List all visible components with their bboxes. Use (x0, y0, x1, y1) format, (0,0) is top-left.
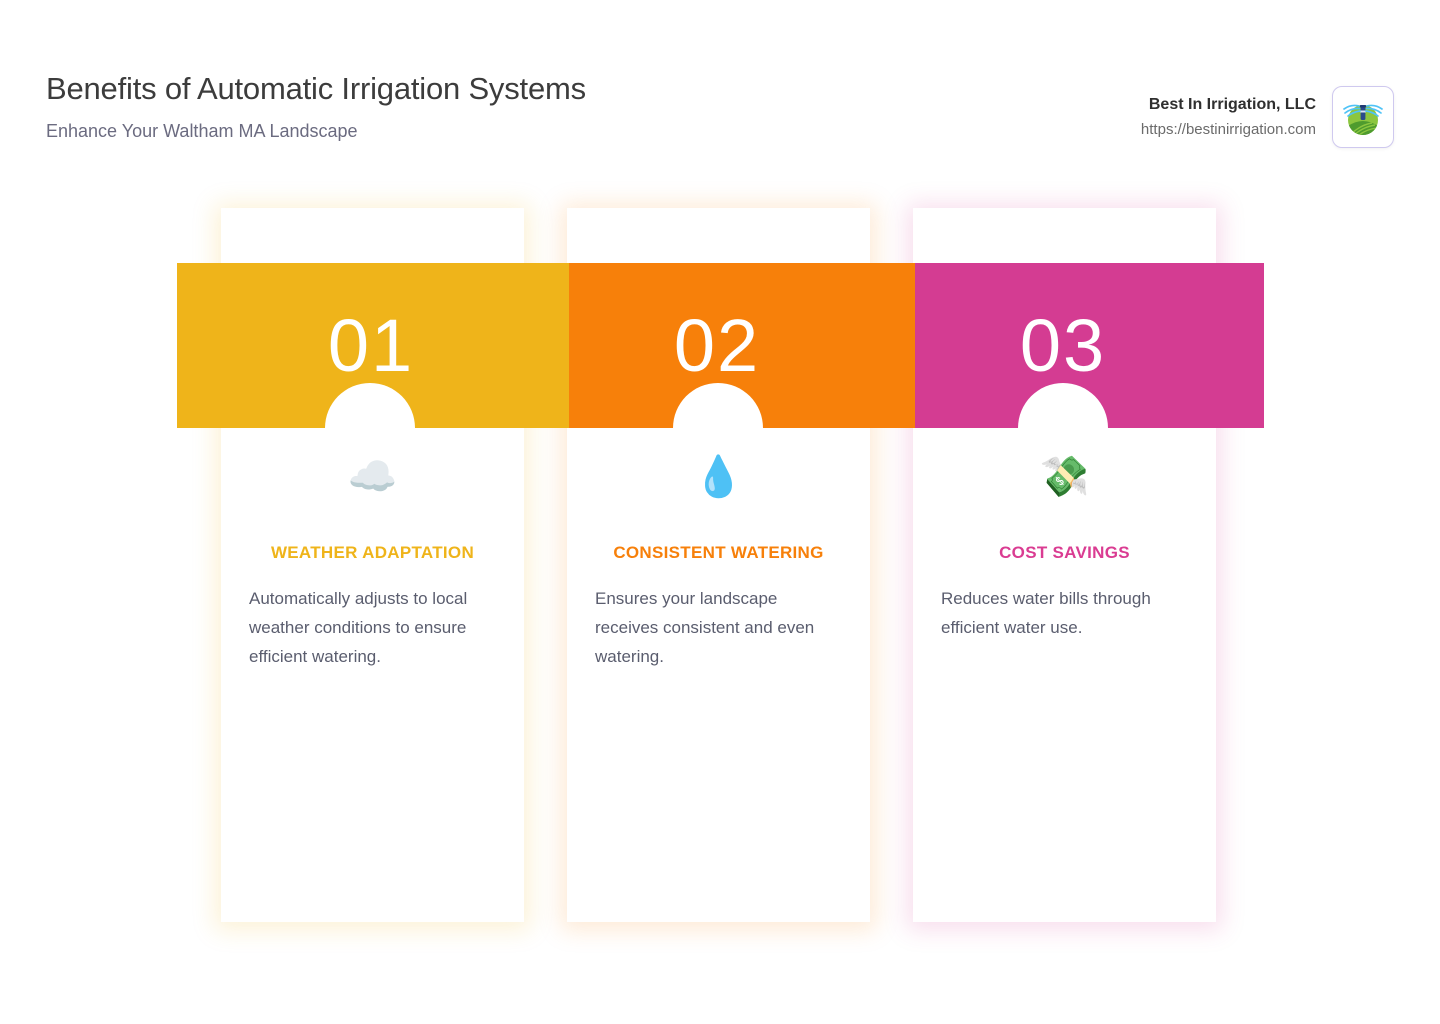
step-number-3: 03 (890, 263, 1236, 428)
chevron-step-banner: 01 02 03 (177, 263, 1264, 428)
header: Benefits of Automatic Irrigation Systems… (46, 70, 1394, 166)
chevron-numbers: 01 02 03 (177, 263, 1264, 428)
step-card-1-description: Automatically adjusts to local weather c… (249, 584, 496, 671)
brand-block: Best In Irrigation, LLC https://bestinir… (1141, 86, 1394, 148)
infographic-page: Benefits of Automatic Irrigation Systems… (0, 0, 1440, 1024)
step-card-2-heading: CONSISTENT WATERING (595, 538, 842, 567)
brand-url[interactable]: https://bestinirrigation.com (1141, 120, 1316, 140)
cloud-icon: ☁️ (249, 440, 496, 514)
step-card-1-heading: WEATHER ADAPTATION (249, 538, 496, 567)
step-card-3-heading: COST SAVINGS (941, 538, 1188, 567)
sprinkler-lawn-logo-icon (1332, 86, 1394, 148)
brand-name: Best In Irrigation, LLC (1141, 94, 1316, 116)
water-droplet-icon: 💧 (595, 440, 842, 514)
step-number-1: 01 (198, 263, 544, 428)
step-card-2-description: Ensures your landscape receives consiste… (595, 584, 842, 671)
step-number-2: 02 (544, 263, 890, 428)
money-with-wings-icon: 💸 (941, 440, 1188, 514)
step-card-3-description: Reduces water bills through efficient wa… (941, 584, 1188, 642)
brand-text: Best In Irrigation, LLC https://bestinir… (1141, 94, 1316, 140)
